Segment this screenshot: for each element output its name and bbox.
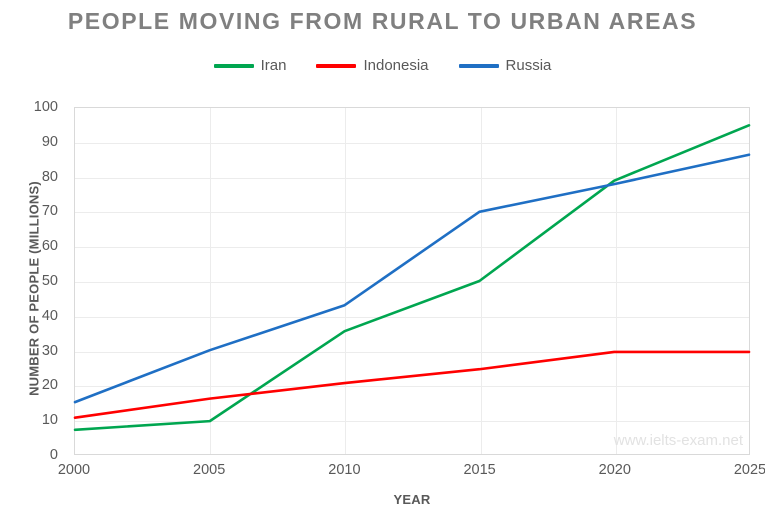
series-line-iran: [75, 125, 749, 429]
x-tick-label: 2005: [193, 462, 225, 478]
legend-swatch-russia: [459, 64, 499, 68]
legend-item-indonesia[interactable]: Indonesia: [316, 58, 428, 73]
legend-swatch-iran: [214, 64, 254, 68]
page-title: PEOPLE MOVING FROM RURAL TO URBAN AREAS: [0, 8, 765, 35]
plot-area: www.ielts-exam.net: [74, 107, 750, 455]
legend-swatch-indonesia: [316, 64, 356, 68]
series-lines: [75, 108, 749, 454]
x-tick-label: 2015: [463, 462, 495, 478]
legend-label-russia: Russia: [506, 58, 552, 73]
y-tick-label: 60: [42, 238, 58, 254]
y-tick-label: 70: [42, 203, 58, 219]
x-tick-label: 2020: [599, 462, 631, 478]
legend-label-iran: Iran: [261, 58, 287, 73]
x-axis-tick-labels: 200020052010201520202025: [74, 462, 750, 486]
series-line-russia: [75, 155, 749, 402]
legend-label-indonesia: Indonesia: [363, 58, 428, 73]
y-tick-label: 10: [42, 412, 58, 428]
y-tick-label: 0: [50, 447, 58, 463]
x-tick-label: 2025: [734, 462, 765, 478]
y-axis-title: NUMBER OF PEOPLE (MILLIONS): [27, 139, 42, 439]
y-tick-label: 30: [42, 343, 58, 359]
x-tick-label: 2010: [328, 462, 360, 478]
chart-legend: Iran Indonesia Russia: [0, 58, 765, 73]
y-tick-label: 50: [42, 273, 58, 289]
y-tick-label: 80: [42, 169, 58, 185]
y-tick-label: 100: [34, 99, 58, 115]
legend-item-iran[interactable]: Iran: [214, 58, 287, 73]
y-tick-label: 40: [42, 308, 58, 324]
legend-item-russia[interactable]: Russia: [459, 58, 552, 73]
y-tick-label: 90: [42, 134, 58, 150]
y-tick-label: 20: [42, 377, 58, 393]
x-axis-title: YEAR: [74, 492, 750, 507]
x-tick-label: 2000: [58, 462, 90, 478]
